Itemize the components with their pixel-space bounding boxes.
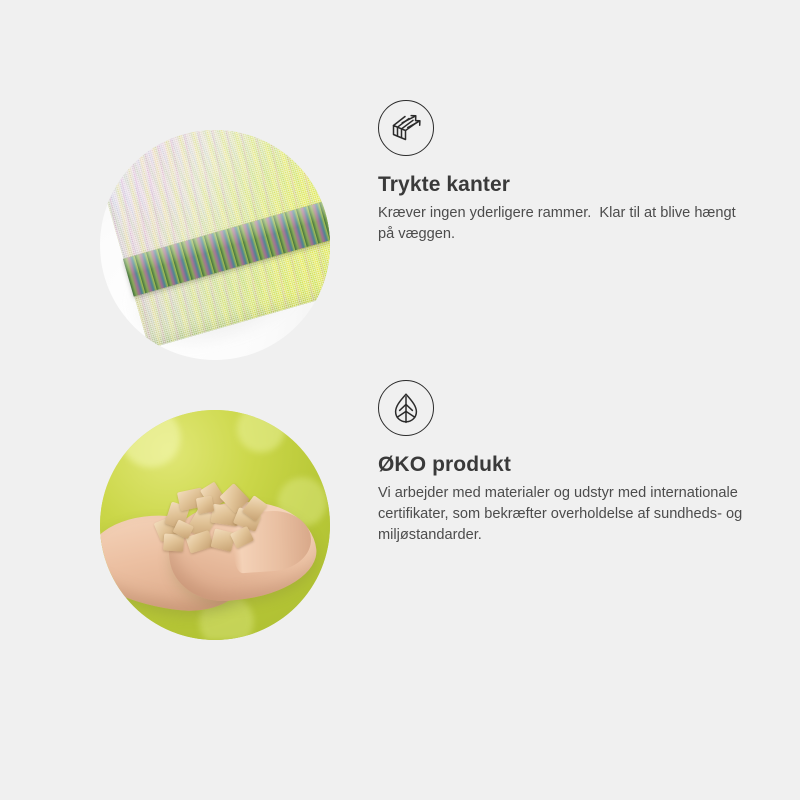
wood-chips-in-hands-photo xyxy=(100,410,330,640)
leaf-glyph xyxy=(389,391,423,425)
printed-edges-icon xyxy=(378,100,434,156)
feature-block-printed-edges: Trykte kanter Kræver ingen yderligere ra… xyxy=(0,100,800,400)
eco-scene xyxy=(100,410,330,640)
feature-title: ØKO produkt xyxy=(378,452,778,477)
canvas-scene xyxy=(100,130,330,360)
canvas-print-corner-photo xyxy=(100,130,330,360)
feature-description: Kræver ingen yderligere rammer. Klar til… xyxy=(378,203,750,244)
feature-description: Vi arbejder med materialer og udstyr med… xyxy=(378,483,750,545)
feature-title: Trykte kanter xyxy=(378,172,778,197)
photo-circle-mask xyxy=(100,130,330,360)
leaf-icon xyxy=(378,380,434,436)
wood-chips-pile xyxy=(148,474,287,561)
feature-text-column: Trykte kanter Kræver ingen yderligere ra… xyxy=(378,100,778,245)
feature-block-eco-product: ØKO produkt Vi arbejder med materialer o… xyxy=(0,380,800,680)
printed-edges-glyph xyxy=(388,110,424,146)
feature-text-column: ØKO produkt Vi arbejder med materialer o… xyxy=(378,380,778,545)
photo-circle-mask xyxy=(100,410,330,640)
product-features-page: Trykte kanter Kræver ingen yderligere ra… xyxy=(0,0,800,800)
